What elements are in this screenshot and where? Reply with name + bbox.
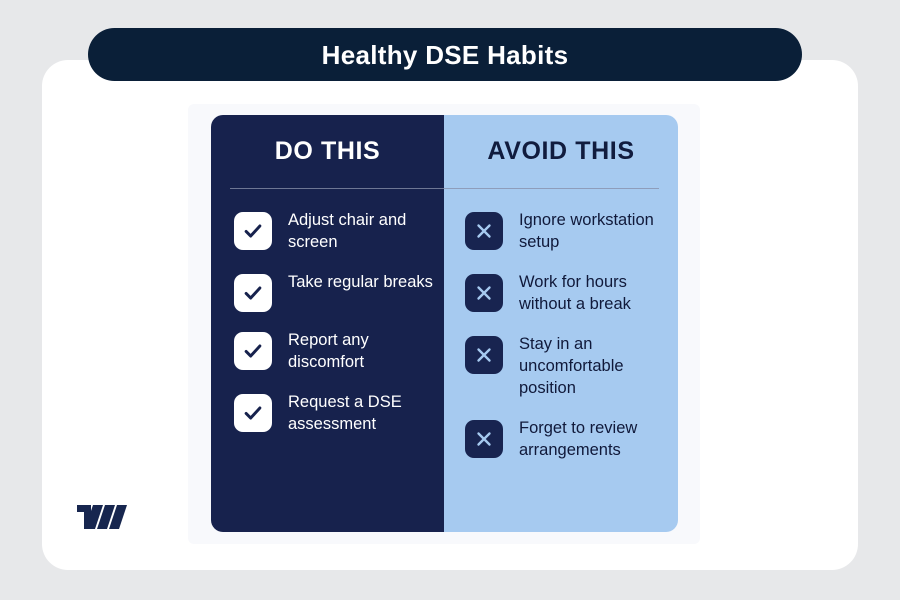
check-icon xyxy=(234,394,272,432)
column-heading-label: AVOID THIS xyxy=(487,139,634,164)
cross-icon xyxy=(465,212,503,250)
infographic-canvas: Healthy DSE Habits DO THIS Adjust chair … xyxy=(0,0,900,600)
title-banner: Healthy DSE Habits xyxy=(88,28,802,81)
column-do-this: DO THIS Adjust chair and screen xyxy=(211,115,444,532)
list-item: Take regular breaks xyxy=(211,272,444,312)
page-title: Healthy DSE Habits xyxy=(322,42,569,68)
list-item: Stay in an uncomfortable position xyxy=(444,334,678,400)
cross-icon xyxy=(465,274,503,312)
list-item: Ignore workstation setup xyxy=(444,210,678,254)
list-item: Request a DSE assessment xyxy=(211,392,444,436)
avoid-this-list: Ignore workstation setup Work for hours … xyxy=(444,188,678,461)
header-divider-do xyxy=(230,188,444,189)
check-icon xyxy=(234,274,272,312)
list-item-label: Report any discomfort xyxy=(288,330,438,374)
list-item-label: Work for hours without a break xyxy=(519,272,674,316)
header-divider-avoid xyxy=(444,188,659,189)
check-icon xyxy=(234,332,272,370)
cross-icon xyxy=(465,336,503,374)
list-item: Forget to review arrangements xyxy=(444,418,678,462)
column-heading-label: DO THIS xyxy=(275,139,381,164)
list-item: Adjust chair and screen xyxy=(211,210,444,254)
cross-icon xyxy=(465,420,503,458)
list-item-label: Take regular breaks xyxy=(288,272,433,294)
check-icon xyxy=(234,212,272,250)
column-header-do-this: DO THIS xyxy=(211,115,444,188)
list-item-label: Forget to review arrangements xyxy=(519,418,674,462)
list-item: Report any discomfort xyxy=(211,330,444,374)
column-avoid-this: AVOID THIS Ignore workstation setup xyxy=(444,115,678,532)
list-item-label: Ignore workstation setup xyxy=(519,210,674,254)
list-item-label: Adjust chair and screen xyxy=(288,210,438,254)
list-item-label: Stay in an uncomfortable position xyxy=(519,334,674,400)
do-this-list: Adjust chair and screen Take regular bre… xyxy=(211,188,444,436)
brand-logo xyxy=(75,503,133,531)
list-item-label: Request a DSE assessment xyxy=(288,392,438,436)
comparison-table: DO THIS Adjust chair and screen xyxy=(211,115,678,532)
column-header-avoid-this: AVOID THIS xyxy=(444,115,678,188)
list-item: Work for hours without a break xyxy=(444,272,678,316)
